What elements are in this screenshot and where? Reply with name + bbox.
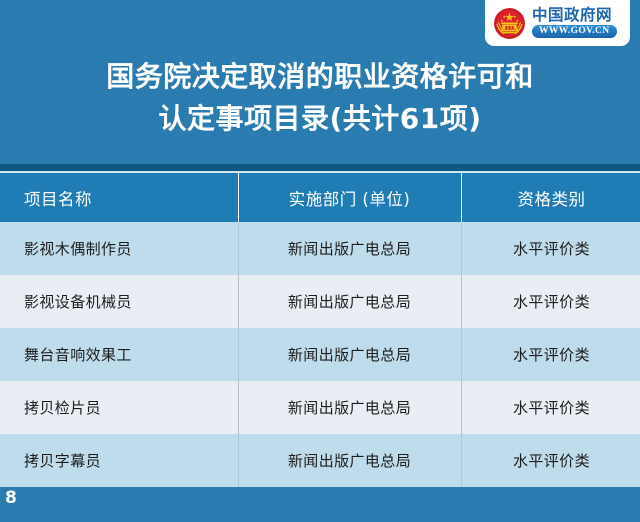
table-row[interactable]: 影视木偶制作员 新闻出版广电总局 水平评价类 [0,222,640,275]
cell-category: 水平评价类 [461,275,640,328]
cell-name: 影视设备机械员 [0,275,238,328]
cell-name: 影视木偶制作员 [0,222,238,275]
cell-department: 新闻出版广电总局 [238,222,461,275]
site-name-label: 中国政府网 [532,8,612,24]
footer-bar: 8 [0,487,640,522]
table-row[interactable]: 影视设备机械员 新闻出版广电总局 水平评价类 [0,275,640,328]
column-header-category[interactable]: 资格类别 [461,173,640,222]
cell-name: 拷贝字幕员 [0,434,238,487]
china-national-emblem-icon [493,7,526,40]
cell-department: 新闻出版广电总局 [238,381,461,434]
cell-name: 舞台音响效果工 [0,328,238,381]
slide-page: 中国政府网 WWW.GOV.CN 国务院决定取消的职业资格许可和 认定事项目录(… [0,0,640,522]
column-header-name[interactable]: 项目名称 [0,173,238,222]
page-title-line-1: 国务院决定取消的职业资格许可和 [0,56,640,98]
gov-site-logo-badge[interactable]: 中国政府网 WWW.GOV.CN [485,0,630,46]
cell-category: 水平评价类 [461,434,640,487]
cell-department: 新闻出版广电总局 [238,434,461,487]
cell-name: 拷贝检片员 [0,381,238,434]
title-divider-band [0,164,640,171]
logo-text-group: 中国政府网 WWW.GOV.CN [532,8,623,39]
table-row[interactable]: 拷贝检片员 新闻出版广电总局 水平评价类 [0,381,640,434]
page-title-line-2: 认定事项目录(共计61项) [0,98,640,140]
page-number-badge: 8 [5,490,17,507]
cell-department: 新闻出版广电总局 [238,275,461,328]
table-body: 影视木偶制作员 新闻出版广电总局 水平评价类 影视设备机械员 新闻出版广电总局 … [0,222,640,487]
cell-category: 水平评价类 [461,328,640,381]
qualifications-table: 项目名称 实施部门 (单位) 资格类别 影视木偶制作员 新闻出版广电总局 水平评… [0,173,640,487]
column-header-department[interactable]: 实施部门 (单位) [238,173,461,222]
cell-category: 水平评价类 [461,222,640,275]
page-title: 国务院决定取消的职业资格许可和 认定事项目录(共计61项) [0,56,640,140]
table-row[interactable]: 舞台音响效果工 新闻出版广电总局 水平评价类 [0,328,640,381]
table-row[interactable]: 拷贝字幕员 新闻出版广电总局 水平评价类 [0,434,640,487]
table-header-row: 项目名称 实施部门 (单位) 资格类别 [0,173,640,222]
cell-department: 新闻出版广电总局 [238,328,461,381]
site-url-badge: WWW.GOV.CN [532,25,617,38]
table-head: 项目名称 实施部门 (单位) 资格类别 [0,173,640,222]
cell-category: 水平评价类 [461,381,640,434]
